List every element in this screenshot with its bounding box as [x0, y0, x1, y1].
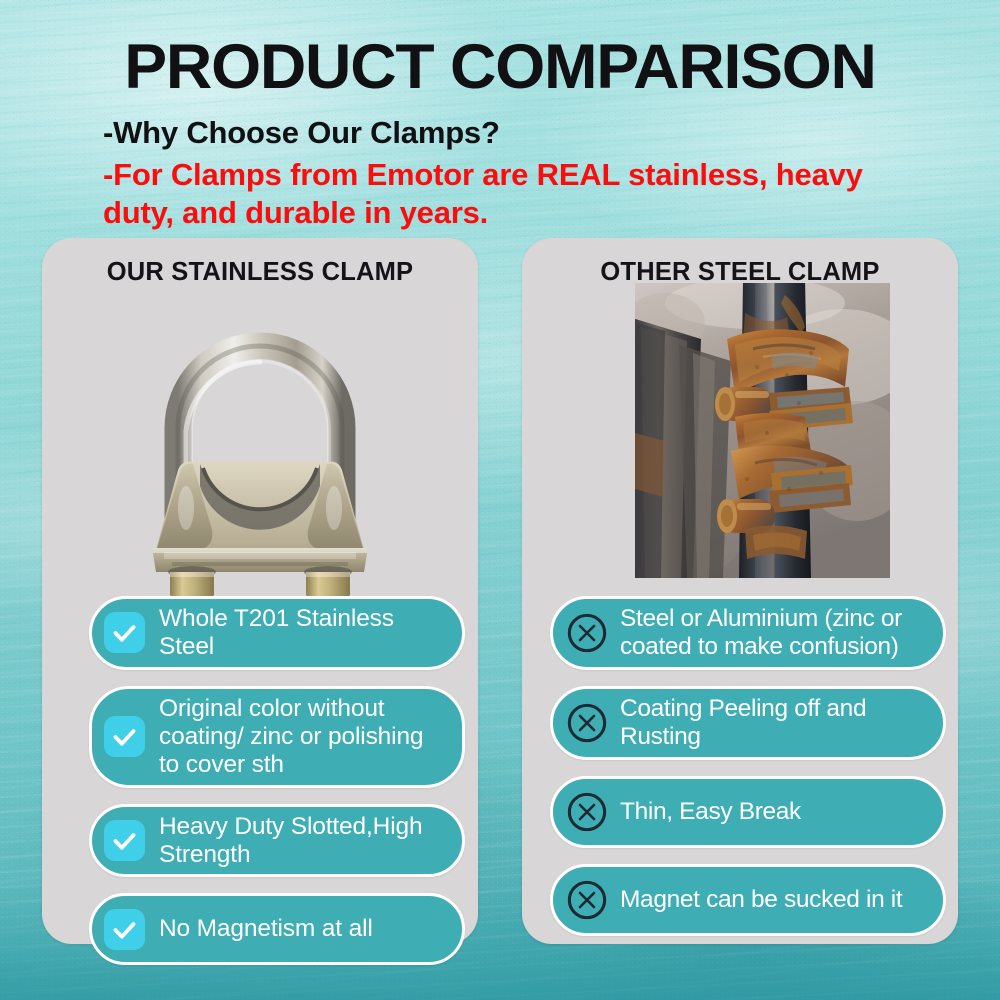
product-image-rusty-clamp	[635, 283, 890, 578]
x-circle-icon	[565, 878, 609, 922]
feature-label: Coating Peeling off and Rusting	[620, 695, 929, 751]
panel-other-steel-clamp: OTHER STEEL CLAMP	[522, 238, 958, 944]
feature-list-other-clamp: Steel or Aluminium (zinc or coated to ma…	[527, 596, 955, 952]
feature-item[interactable]: No Magnetism at all	[89, 893, 465, 965]
check-icon	[104, 909, 145, 950]
feature-item[interactable]: Thin, Easy Break	[550, 776, 946, 848]
panel-left-heading: OUR STAINLESS CLAMP	[42, 258, 478, 287]
feature-item[interactable]: Whole T201 Stainless Steel	[89, 596, 465, 670]
check-icon	[104, 716, 145, 757]
feature-label: Original color without coating/ zinc or …	[159, 695, 446, 779]
feature-item[interactable]: Original color without coating/ zinc or …	[89, 686, 465, 788]
feature-label: Steel or Aluminium (zinc or coated to ma…	[620, 605, 929, 661]
stainless-u-bolt-clamp-illustration	[60, 300, 460, 600]
feature-label: Heavy Duty Slotted,High Strength	[159, 813, 446, 869]
check-icon	[104, 820, 145, 861]
product-image-stainless-clamp	[60, 300, 460, 600]
x-circle-icon	[565, 790, 609, 834]
subtitle-question: -Why Choose Our Clamps?	[0, 116, 1000, 149]
feature-label: Thin, Easy Break	[620, 798, 801, 826]
rusted-clamp-photo-illustration	[635, 283, 890, 578]
feature-label: Whole T201 Stainless Steel	[159, 605, 446, 661]
feature-item[interactable]: Heavy Duty Slotted,High Strength	[89, 804, 465, 878]
feature-label: No Magnetism at all	[159, 915, 373, 943]
header-block: PRODUCT COMPARISON -Why Choose Our Clamp…	[0, 0, 1000, 232]
feature-list-our-clamp: Whole T201 Stainless Steel Original colo…	[47, 596, 475, 981]
x-circle-icon	[565, 701, 609, 745]
check-icon	[104, 612, 145, 653]
feature-label: Magnet can be sucked in it	[620, 886, 902, 914]
feature-item[interactable]: Coating Peeling off and Rusting	[550, 686, 946, 760]
subtitle-claim: -For Clamps from Emotor are REAL stainle…	[0, 156, 1000, 232]
page-title: PRODUCT COMPARISON	[0, 0, 1000, 99]
feature-item[interactable]: Magnet can be sucked in it	[550, 864, 946, 936]
panel-our-stainless-clamp: OUR STAINLESS CLAMP	[42, 238, 478, 944]
feature-item[interactable]: Steel or Aluminium (zinc or coated to ma…	[550, 596, 946, 670]
x-circle-icon	[565, 611, 609, 655]
